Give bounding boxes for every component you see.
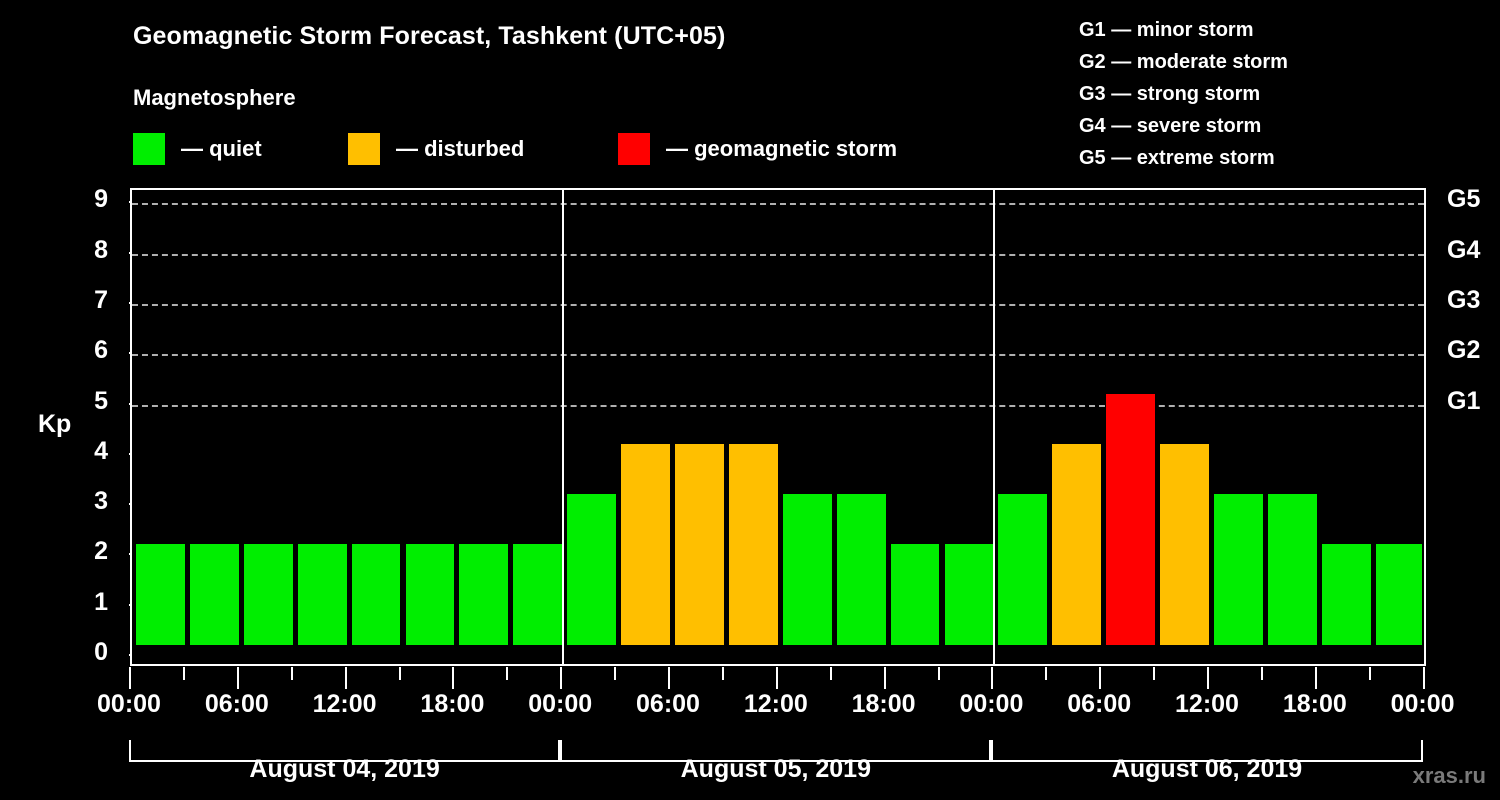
storm-swatch <box>618 133 650 165</box>
bar-18 <box>1106 394 1155 646</box>
x-tick-9 <box>614 667 616 680</box>
bar-0 <box>136 544 185 645</box>
bar-3 <box>298 544 347 645</box>
y-tick-label-8: 8 <box>68 236 108 265</box>
bar-7 <box>513 544 562 645</box>
x-tick-2 <box>237 667 239 689</box>
g-scale-row-3: G3 — strong storm <box>1079 78 1288 110</box>
bar-1 <box>190 544 239 645</box>
x-tick-22 <box>1315 667 1317 689</box>
bar-14 <box>891 544 940 645</box>
x-tick-label-2: 12:00 <box>313 690 377 719</box>
x-tick-1 <box>183 667 185 680</box>
bar-4 <box>352 544 401 645</box>
bar-20 <box>1214 494 1263 645</box>
y-axis-label: Kp <box>38 410 71 439</box>
g-scale-legend: G1 — minor stormG2 — moderate stormG3 — … <box>1079 14 1288 174</box>
legend-item-0: — quiet <box>133 133 262 165</box>
x-tick-label-9: 06:00 <box>1067 690 1131 719</box>
g-scale-row-1: G1 — minor storm <box>1079 14 1288 46</box>
x-tick-label-4: 00:00 <box>528 690 592 719</box>
y-tick-label-4: 4 <box>68 437 108 466</box>
disturbed-swatch <box>348 133 380 165</box>
bar-15 <box>945 544 994 645</box>
g-tick-label-G3: G3 <box>1447 286 1480 315</box>
x-tick-label-5: 06:00 <box>636 690 700 719</box>
y-tick-label-0: 0 <box>68 638 108 667</box>
y-tick-label-6: 6 <box>68 336 108 365</box>
plot-area <box>130 188 1426 666</box>
bar-13 <box>837 494 886 645</box>
y-tick-label-9: 9 <box>68 185 108 214</box>
bar-23 <box>1376 544 1422 645</box>
bar-16 <box>998 494 1047 645</box>
x-tick-19 <box>1153 667 1155 680</box>
x-tick-label-12: 00:00 <box>1391 690 1455 719</box>
x-tick-11 <box>722 667 724 680</box>
x-tick-5 <box>399 667 401 680</box>
x-tick-0 <box>129 667 131 689</box>
day-label-3: August 06, 2019 <box>1112 755 1302 784</box>
bar-9 <box>621 444 670 645</box>
legend-label: — disturbed <box>396 133 524 165</box>
watermark: xras.ru <box>1413 763 1486 789</box>
bracket-right-tick <box>1421 740 1423 762</box>
x-tick-23 <box>1369 667 1371 680</box>
day-label-2: August 05, 2019 <box>681 755 871 784</box>
y-tick-label-3: 3 <box>68 487 108 516</box>
day-label-1: August 04, 2019 <box>249 755 439 784</box>
g-tick-label-G5: G5 <box>1447 185 1480 214</box>
bar-12 <box>783 494 832 645</box>
x-tick-7 <box>506 667 508 680</box>
chart-subtitle: Magnetosphere <box>133 85 296 111</box>
x-tick-4 <box>345 667 347 689</box>
x-tick-label-11: 18:00 <box>1283 690 1347 719</box>
bracket-left-tick <box>129 740 131 762</box>
bracket-left-tick <box>991 740 993 762</box>
bar-19 <box>1160 444 1209 645</box>
x-tick-label-10: 12:00 <box>1175 690 1239 719</box>
x-tick-15 <box>938 667 940 680</box>
x-tick-13 <box>830 667 832 680</box>
bar-17 <box>1052 444 1101 645</box>
g-scale-row-2: G2 — moderate storm <box>1079 46 1288 78</box>
x-tick-24 <box>1423 667 1425 689</box>
bracket-left-tick <box>560 740 562 762</box>
legend-label: — geomagnetic storm <box>666 133 897 165</box>
legend-item-2: — geomagnetic storm <box>618 133 897 165</box>
page-title: Geomagnetic Storm Forecast, Tashkent (UT… <box>133 22 725 51</box>
x-tick-label-8: 00:00 <box>959 690 1023 719</box>
bar-8 <box>567 494 616 645</box>
x-tick-20 <box>1207 667 1209 689</box>
y-tick-label-2: 2 <box>68 537 108 566</box>
x-tick-18 <box>1099 667 1101 689</box>
bar-21 <box>1268 494 1317 645</box>
day-separator-2 <box>993 190 995 664</box>
x-tick-10 <box>668 667 670 689</box>
x-tick-label-3: 18:00 <box>420 690 484 719</box>
g-scale-row-4: G4 — severe storm <box>1079 110 1288 142</box>
bar-10 <box>675 444 724 645</box>
x-tick-label-7: 18:00 <box>852 690 916 719</box>
g-scale-row-5: G5 — extreme storm <box>1079 142 1288 174</box>
x-tick-label-1: 06:00 <box>205 690 269 719</box>
x-tick-label-0: 00:00 <box>97 690 161 719</box>
bar-2 <box>244 544 293 645</box>
x-tick-6 <box>452 667 454 689</box>
x-tick-14 <box>884 667 886 689</box>
x-tick-8 <box>560 667 562 689</box>
y-tick-label-5: 5 <box>68 387 108 416</box>
x-tick-16 <box>991 667 993 689</box>
bar-6 <box>459 544 508 645</box>
bar-series <box>132 190 1424 664</box>
x-tick-3 <box>291 667 293 680</box>
x-tick-label-6: 12:00 <box>744 690 808 719</box>
legend-item-1: — disturbed <box>348 133 524 165</box>
x-tick-21 <box>1261 667 1263 680</box>
x-tick-17 <box>1045 667 1047 680</box>
x-tick-12 <box>776 667 778 689</box>
g-tick-label-G4: G4 <box>1447 236 1480 265</box>
y-tick-label-7: 7 <box>68 286 108 315</box>
chart-canvas: Geomagnetic Storm Forecast, Tashkent (UT… <box>0 0 1500 800</box>
quiet-swatch <box>133 133 165 165</box>
legend-label: — quiet <box>181 133 262 165</box>
bar-11 <box>729 444 778 645</box>
g-tick-label-G1: G1 <box>1447 387 1480 416</box>
bar-22 <box>1322 544 1371 645</box>
g-tick-label-G2: G2 <box>1447 336 1480 365</box>
bar-5 <box>406 544 455 645</box>
y-tick-label-1: 1 <box>68 588 108 617</box>
day-separator-1 <box>562 190 564 664</box>
